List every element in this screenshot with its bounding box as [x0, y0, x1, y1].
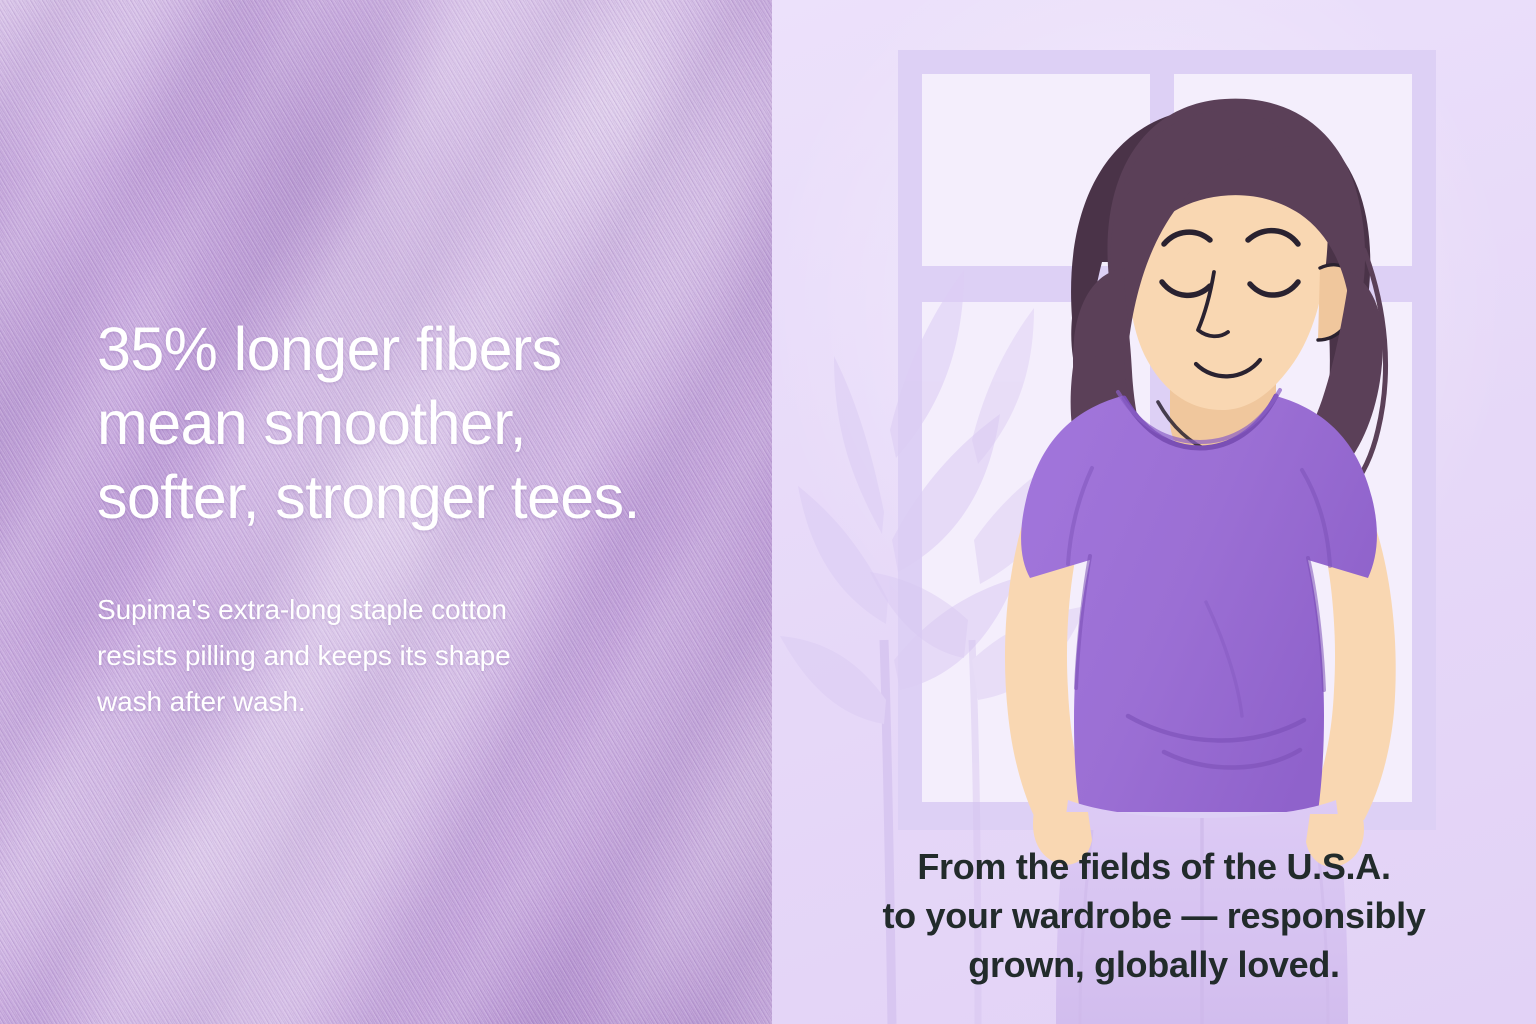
fabric-hero-panel: 35% longer fibers mean smoother, softer,… — [0, 0, 772, 1024]
feature-graphic: 35% longer fibers mean smoother, softer,… — [0, 0, 1536, 1024]
illustration-caption: From the fields of the U.S.A. to your wa… — [772, 842, 1536, 989]
fabric-copy-block: 35% longer fibers mean smoother, softer,… — [97, 312, 697, 725]
supporting-paragraph: Supima's extra-long staple cotton resist… — [97, 534, 697, 725]
page-title: 35% longer fibers mean smoother, softer,… — [97, 312, 697, 534]
illustration-panel: From the fields of the U.S.A. to your wa… — [772, 0, 1536, 1024]
